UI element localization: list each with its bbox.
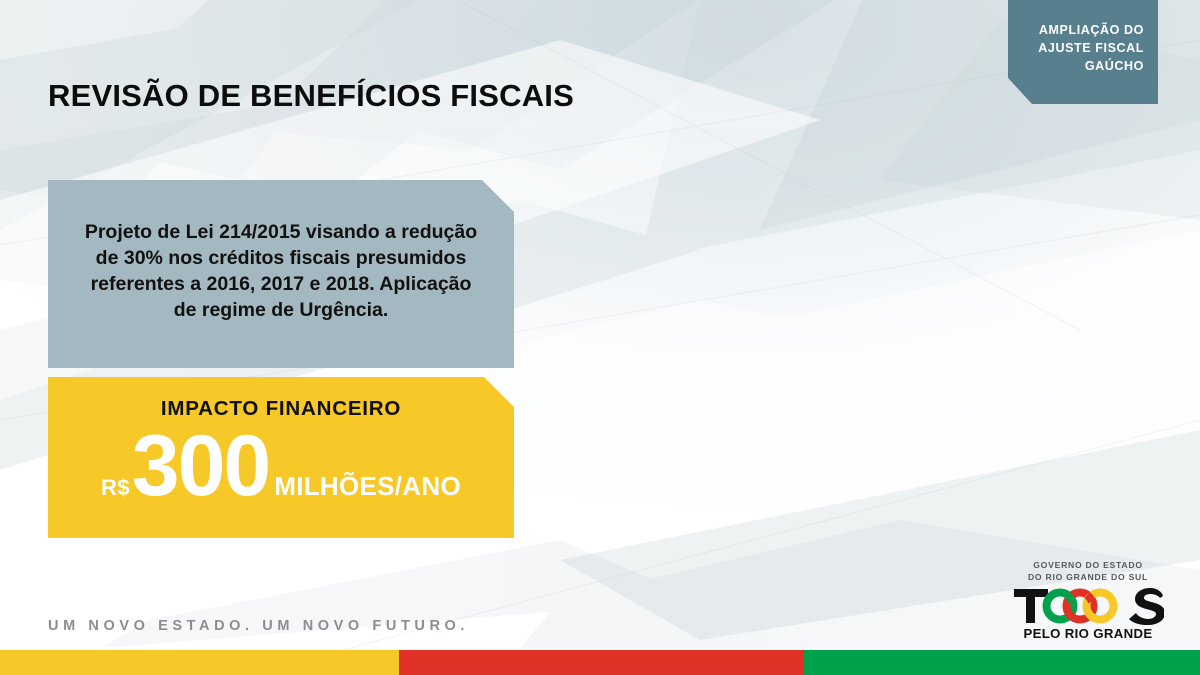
bottom-color-stripe <box>0 650 1200 675</box>
logo-subtitle: PELO RIO GRANDE <box>1008 626 1168 641</box>
stripe-segment-green <box>803 650 1200 675</box>
impact-number: 300 <box>132 423 270 509</box>
description-text: Projeto de Lei 214/2015 visando a reduçã… <box>82 220 480 324</box>
stripe-segment-red <box>399 650 803 675</box>
slide-tagline: UM NOVO ESTADO. UM NOVO FUTURO. <box>48 618 469 634</box>
ampliacao-ajuste-fiscal-badge: AMPLIAÇÃO DO AJUSTE FISCAL GAÚCHO <box>1008 0 1158 104</box>
government-logo: GOVERNO DO ESTADO DO RIO GRANDE DO SUL P… <box>1008 560 1168 641</box>
badge-line-1: AMPLIAÇÃO DO <box>1038 22 1144 40</box>
gov-logo-line-2: DO RIO GRANDE DO SUL <box>1008 572 1168 584</box>
page-title: REVISÃO DE BENEFÍCIOS FISCAIS <box>48 78 574 114</box>
badge-line-2: AJUSTE FISCAL <box>1038 40 1144 58</box>
gov-logo-line-1: GOVERNO DO ESTADO <box>1008 560 1168 572</box>
description-card: Projeto de Lei 214/2015 visando a reduçã… <box>48 180 514 368</box>
impact-currency: R$ <box>101 475 130 501</box>
financial-impact-card: IMPACTO FINANCEIRO R$ 300 MILHÕES/ANO <box>48 377 514 538</box>
impact-unit: MILHÕES/ANO <box>274 471 461 502</box>
impact-value-row: R$ 300 MILHÕES/ANO <box>48 423 514 509</box>
presentation-slide: AMPLIAÇÃO DO AJUSTE FISCAL GAÚCHO REVISÃ… <box>0 0 1200 675</box>
todos-wordmark-icon <box>1008 585 1168 625</box>
badge-line-3: GAÚCHO <box>1038 58 1144 76</box>
impact-label: IMPACTO FINANCEIRO <box>48 397 514 421</box>
stripe-segment-yellow <box>0 650 399 675</box>
badge-text-block: AMPLIAÇÃO DO AJUSTE FISCAL GAÚCHO <box>1038 22 1144 75</box>
